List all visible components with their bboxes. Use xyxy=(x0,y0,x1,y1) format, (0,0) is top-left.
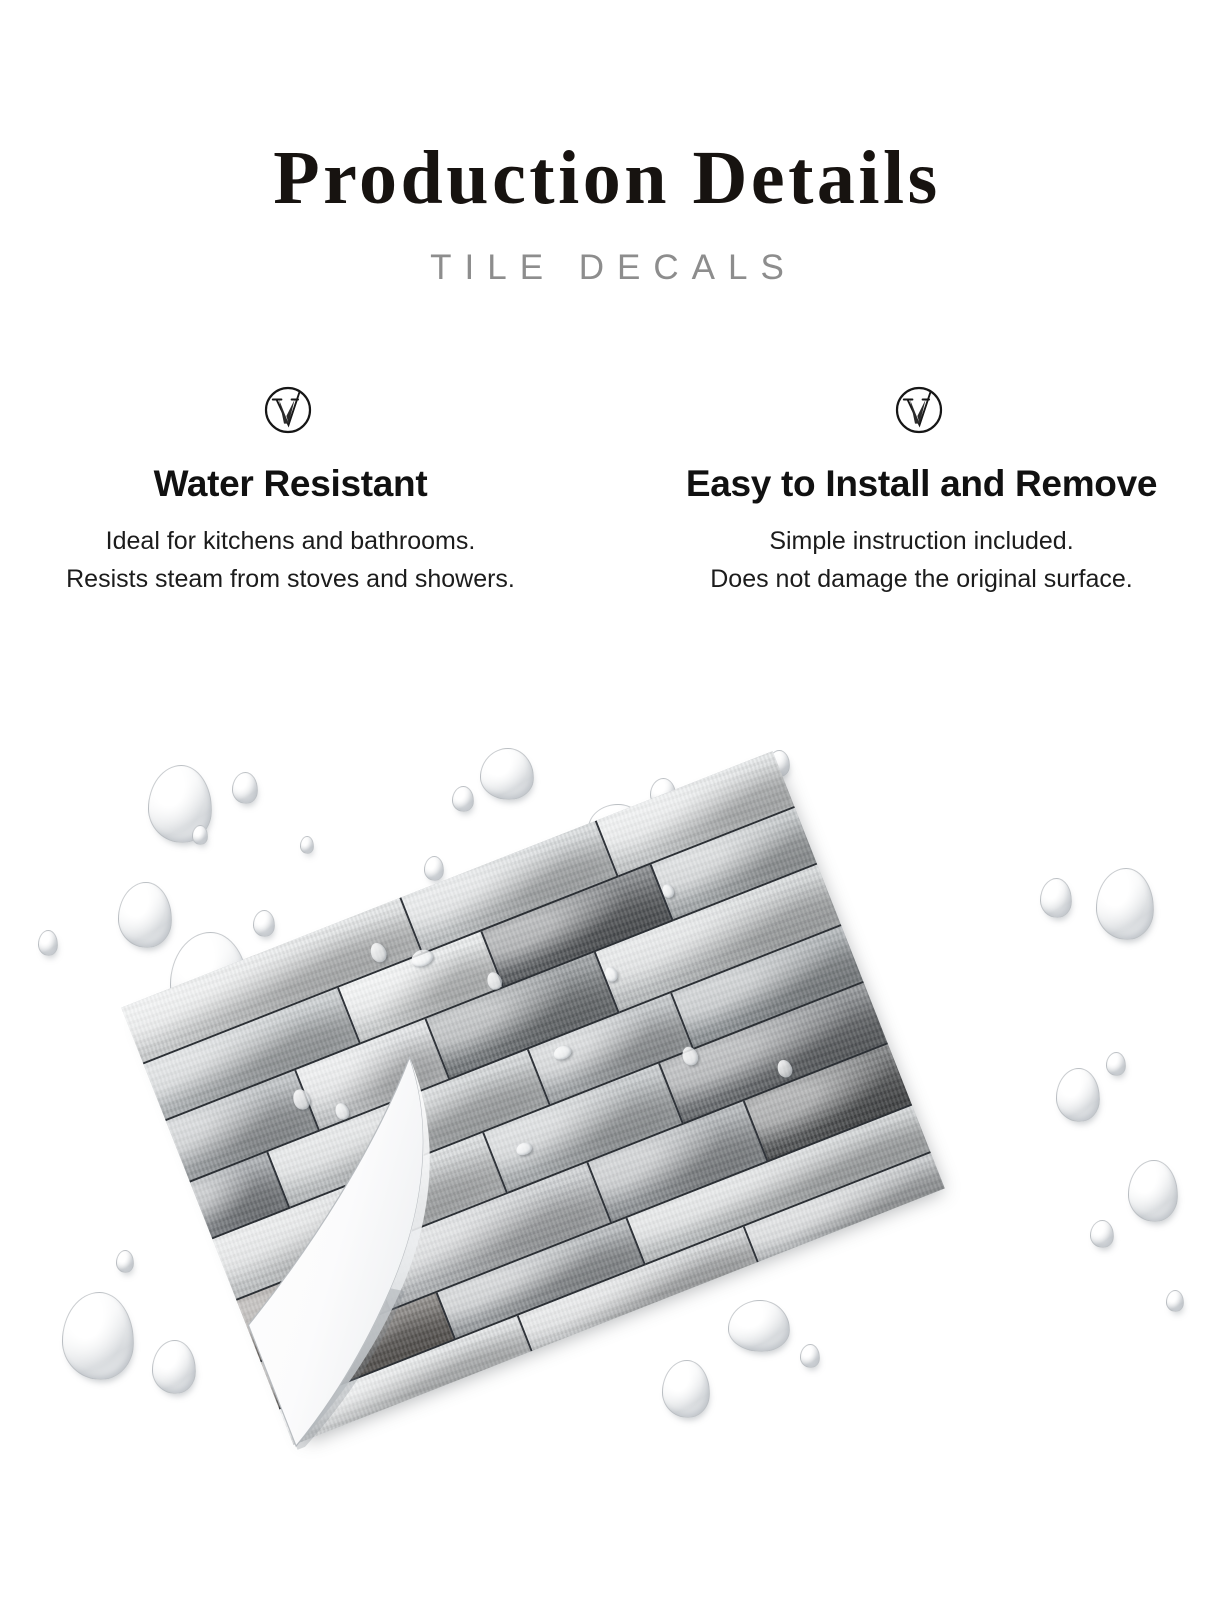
feature-list: Water Resistant Ideal for kitchens and b… xyxy=(0,378,1214,598)
header: Production Details TILE DECALS xyxy=(0,0,1214,288)
feature-line: Ideal for kitchens and bathrooms. xyxy=(0,522,581,560)
feature-title: Water Resistant xyxy=(0,463,581,505)
stone-tile-decal-sheet xyxy=(121,751,945,1445)
feature-description: Simple instruction included. Does not da… xyxy=(629,522,1214,598)
feature-water-resistant: Water Resistant Ideal for kitchens and b… xyxy=(0,378,607,598)
product-photo xyxy=(0,600,1214,1619)
feature-title: Easy to Install and Remove xyxy=(629,463,1214,505)
feature-line: Does not damage the original surface. xyxy=(629,560,1214,598)
feature-description: Ideal for kitchens and bathrooms. Resist… xyxy=(0,522,581,598)
page-title: Production Details xyxy=(0,140,1214,216)
check-circle-icon xyxy=(629,378,1214,440)
check-circle-icon xyxy=(0,378,581,440)
feature-line: Simple instruction included. xyxy=(629,522,1214,560)
feature-line: Resists steam from stoves and showers. xyxy=(0,560,581,598)
feature-easy-install: Easy to Install and Remove Simple instru… xyxy=(607,378,1214,598)
page-subtitle: TILE DECALS xyxy=(0,248,1214,288)
